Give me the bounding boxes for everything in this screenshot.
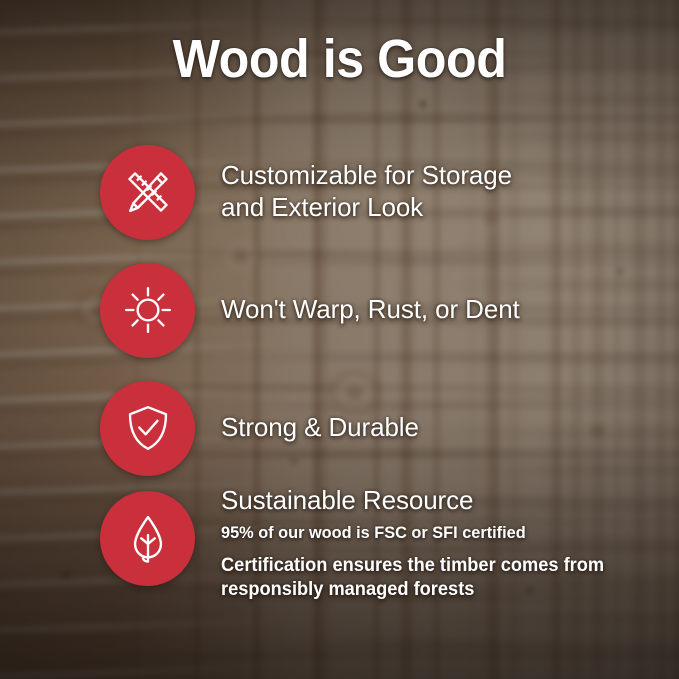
ruler-pencil-icon [121, 165, 175, 219]
page-title: Wood is Good [24, 32, 655, 86]
sun-icon [121, 283, 175, 337]
infographic-poster: Wood is Good [0, 0, 679, 679]
feature-text: Customizable for Storage and Exterior Lo… [221, 160, 512, 223]
feature-subline: 95% of our wood is FSC or SFI certified [221, 522, 604, 545]
feature-icon-badge [100, 145, 195, 240]
feature-icon-badge [100, 263, 195, 358]
feature-text: Strong & Durable [221, 412, 419, 444]
shield-check-icon [121, 401, 175, 455]
feature-icon-badge [100, 491, 195, 586]
list-item: Sustainable Resource 95% of our wood is … [100, 487, 659, 605]
feature-text: Sustainable Resource 95% of our wood is … [221, 485, 620, 602]
feature-headline: Won't Warp, Rust, or Dent [221, 294, 520, 326]
list-item: Customizable for Storage and Exterior Lo… [100, 133, 659, 251]
feature-headline: Sustainable Resource [221, 485, 620, 517]
feature-subline-secondary: Certification ensures the timber comes f… [221, 554, 604, 603]
poster-content: Wood is Good [0, 0, 679, 679]
feature-icon-badge [100, 381, 195, 476]
feature-text: Won't Warp, Rust, or Dent [221, 294, 520, 326]
leaf-icon [121, 512, 175, 566]
list-item: Strong & Durable [100, 369, 659, 487]
list-item: Won't Warp, Rust, or Dent [100, 251, 659, 369]
feature-list: Customizable for Storage and Exterior Lo… [100, 133, 659, 605]
feature-headline: Strong & Durable [221, 412, 419, 444]
feature-headline: Customizable for Storage and Exterior Lo… [221, 160, 512, 223]
